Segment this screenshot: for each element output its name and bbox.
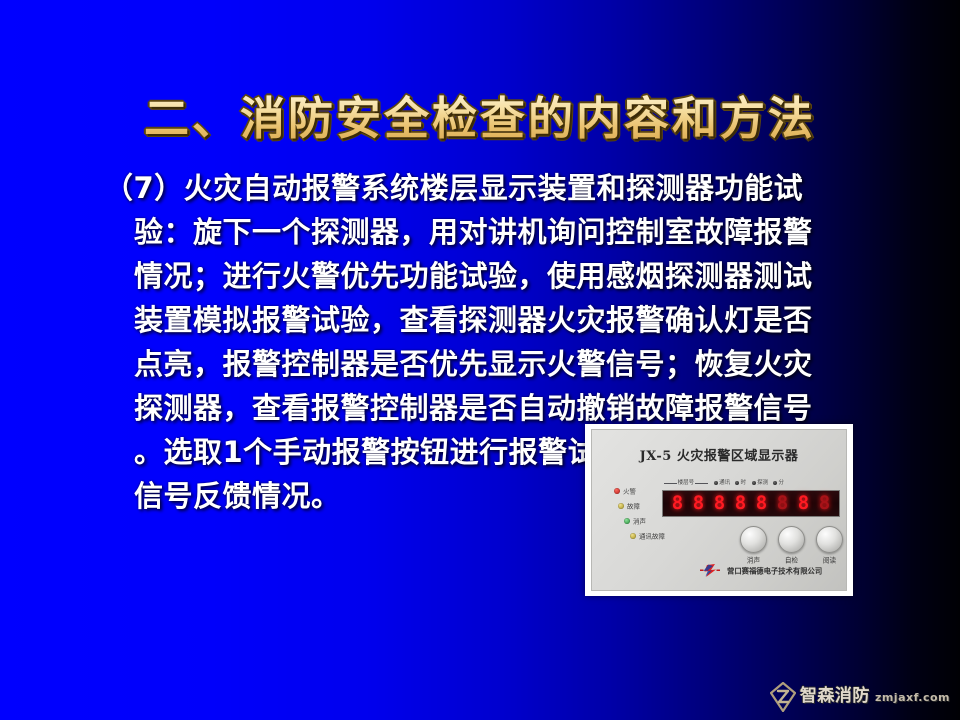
- lamp-icon: [618, 503, 624, 509]
- lamp-icon: [630, 533, 636, 539]
- device-photo: JX-5 火灾报警区域显示器 火警 故障 消声 通讯故障: [585, 424, 853, 596]
- led-digit: 8: [735, 494, 746, 513]
- round-button-icon[interactable]: [740, 526, 767, 553]
- led-header-detector: 探测: [752, 480, 767, 486]
- indicator-label: 火警: [623, 486, 636, 495]
- watermark-logo-icon: [770, 682, 796, 712]
- led-header-labels: 楼层号 通讯 时 探测 分: [664, 478, 839, 488]
- page-title: 二、消防安全检查的内容和方法: [0, 82, 960, 147]
- indicator-fault: 故障: [618, 502, 638, 510]
- bullet-dot-icon: [773, 481, 777, 485]
- button-self-test[interactable]: 自检: [778, 526, 805, 564]
- watermark-url: zmjaxf.com: [875, 691, 950, 704]
- watermark: 智森消防 zmjaxf.com: [770, 682, 950, 712]
- led-header-hour: 时: [735, 480, 746, 486]
- panel-footer: 营口赛福德电子技术有限公司: [700, 563, 805, 578]
- led-header-label: 分: [778, 479, 784, 486]
- indicator-label: 消声: [633, 516, 646, 525]
- led-digit: 8: [693, 494, 704, 513]
- button-label: 阅读: [813, 555, 845, 565]
- body-line-1: （7）火灾自动报警系统楼层显示装置和探测器功能试: [104, 166, 894, 210]
- round-button-icon[interactable]: [816, 526, 843, 553]
- led-digit: 8: [672, 494, 683, 513]
- indicator-comm-fault: 通讯故障: [630, 532, 661, 540]
- led-digit: 8: [798, 494, 809, 513]
- watermark-title: 智森消防: [800, 686, 870, 706]
- body-line-4: 装置模拟报警试验，查看探测器火灾报警确认灯是否: [104, 298, 894, 342]
- body-line-5: 点亮，报警控制器是否优先显示火警信号；恢复火灾: [104, 342, 894, 386]
- led-header-label: 时: [741, 479, 747, 486]
- bullet-dot-icon: [752, 481, 756, 485]
- led-header-floor: 楼层号: [664, 480, 708, 486]
- led-digit: 8: [756, 494, 767, 513]
- panel-button-row: 消声 自检 阅读: [740, 526, 843, 564]
- lamp-icon: [614, 488, 620, 494]
- led-header-label: 楼层号: [678, 479, 695, 486]
- button-read[interactable]: 阅读: [816, 526, 843, 564]
- watermark-text-group: 智森消防 zmjaxf.com: [800, 688, 950, 706]
- slide-canvas: 二、消防安全检查的内容和方法 （7）火灾自动报警系统楼层显示装置和探测器功能试 …: [0, 0, 960, 720]
- led-header-comm: 通讯: [714, 480, 729, 486]
- body-line-3: 情况；进行火警优先功能试验，使用感烟探测器测试: [104, 254, 894, 298]
- led-display: 8 8 8 8 8 8 8 8: [662, 490, 840, 517]
- led-header-minute: 分: [773, 480, 784, 486]
- company-name: 营口赛福德电子技术有限公司: [727, 565, 822, 576]
- company-logo-icon: [700, 563, 720, 578]
- led-digit: 8: [819, 494, 830, 513]
- led-header-label: 探测: [757, 479, 768, 486]
- panel-title: JX-5 火灾报警区域显示器: [592, 445, 846, 464]
- indicator-fire-alarm: 火警: [614, 487, 634, 495]
- fire-alarm-zone-display-panel: JX-5 火灾报警区域显示器 火警 故障 消声 通讯故障: [591, 429, 847, 591]
- lamp-icon: [624, 518, 630, 524]
- led-header-label: 通讯: [719, 479, 730, 486]
- indicator-label: 通讯故障: [639, 531, 665, 540]
- bullet-dot-icon: [735, 481, 739, 485]
- button-silence[interactable]: 消声: [740, 526, 767, 564]
- dash-right-icon: [695, 483, 708, 484]
- bullet-dot-icon: [714, 481, 718, 485]
- led-digit: 8: [714, 494, 725, 513]
- dash-left-icon: [664, 483, 677, 484]
- indicator-silence: 消声: [624, 517, 644, 525]
- round-button-icon[interactable]: [778, 526, 805, 553]
- body-line-2: 验：旋下一个探测器，用对讲机询问控制室故障报警: [104, 210, 894, 254]
- indicator-label: 故障: [627, 501, 640, 510]
- led-digit: 8: [777, 494, 788, 513]
